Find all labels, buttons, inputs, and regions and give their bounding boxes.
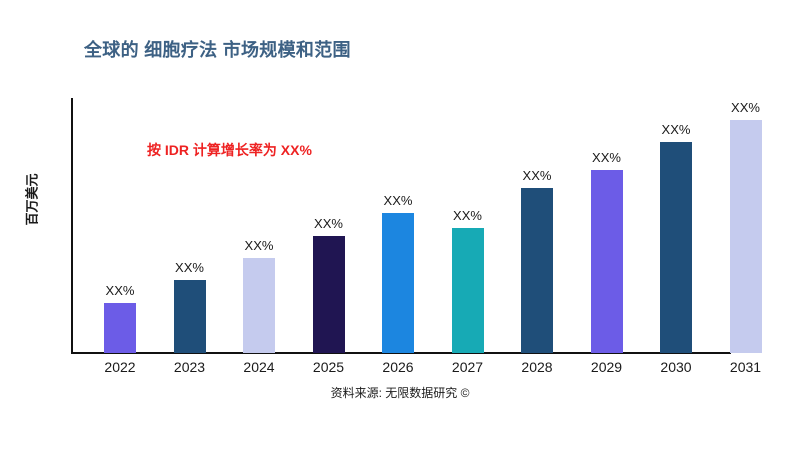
bar-value-label: XX% (295, 216, 363, 231)
source-note: 资料来源: 无限数据研究 © (0, 384, 800, 401)
bar-value-label: XX% (225, 238, 293, 253)
bar[interactable] (313, 236, 345, 353)
bar-value-label: XX% (364, 193, 432, 208)
bar[interactable] (243, 258, 275, 353)
bar[interactable] (521, 188, 553, 353)
bar[interactable] (660, 142, 692, 353)
x-axis-tick-2029: 2029 (573, 359, 641, 375)
x-axis-tick-2023: 2023 (156, 359, 224, 375)
x-axis-tick-2025: 2025 (295, 359, 363, 375)
x-axis-tick-2026: 2026 (364, 359, 432, 375)
bar[interactable] (452, 228, 484, 353)
bar[interactable] (104, 303, 136, 353)
bar[interactable] (174, 280, 206, 353)
bar-value-label: XX% (642, 122, 710, 137)
bar-value-label: XX% (86, 283, 154, 298)
bar-series: XX%2022XX%2023XX%2024XX%2025XX%2026XX%20… (0, 0, 800, 450)
bar[interactable] (730, 120, 762, 353)
bar[interactable] (591, 170, 623, 353)
bar[interactable] (382, 213, 414, 353)
x-axis-tick-2028: 2028 (503, 359, 571, 375)
bar-value-label: XX% (712, 100, 780, 115)
bar-value-label: XX% (156, 260, 224, 275)
bar-value-label: XX% (503, 168, 571, 183)
x-axis-tick-2024: 2024 (225, 359, 293, 375)
chart-page: 全球的 细胞疗法 市场规模和范围 百万美元 按 IDR 计算增长率为 XX% X… (0, 0, 800, 450)
x-axis-tick-2022: 2022 (86, 359, 154, 375)
bar-value-label: XX% (434, 208, 502, 223)
bar-value-label: XX% (573, 150, 641, 165)
x-axis-tick-2031: 2031 (712, 359, 780, 375)
x-axis-tick-2030: 2030 (642, 359, 710, 375)
x-axis-tick-2027: 2027 (434, 359, 502, 375)
